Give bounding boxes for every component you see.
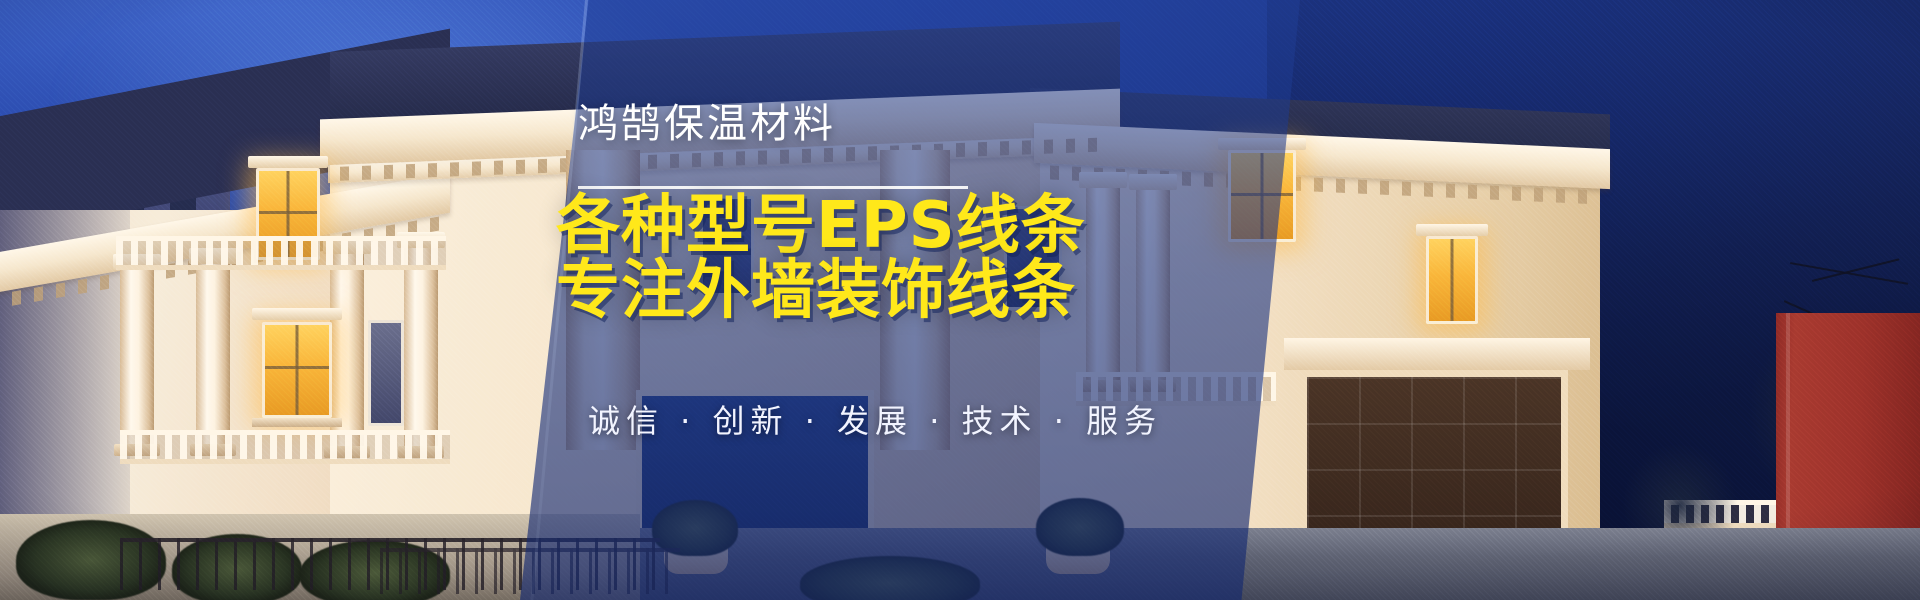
headline-line-2: 专注外墙装饰线条 [556, 259, 1086, 324]
brand-eyebrow: 鸿鹄保温材料 [578, 104, 836, 144]
banner-content: 鸿鹄保温材料 各种型号EPS线条 专注外墙装饰线条 诚信 · 创新 · 发展 ·… [0, 0, 1920, 600]
tagline: 诚信 · 创新 · 发展 · 技术 · 服务 [588, 405, 1162, 437]
headline-line-1: 各种型号EPS线条 [556, 189, 1086, 263]
headline: 各种型号EPS线条 专注外墙装饰线条 [556, 194, 1086, 325]
hero-banner: 鸿鹄保温材料 各种型号EPS线条 专注外墙装饰线条 诚信 · 创新 · 发展 ·… [0, 0, 1920, 600]
